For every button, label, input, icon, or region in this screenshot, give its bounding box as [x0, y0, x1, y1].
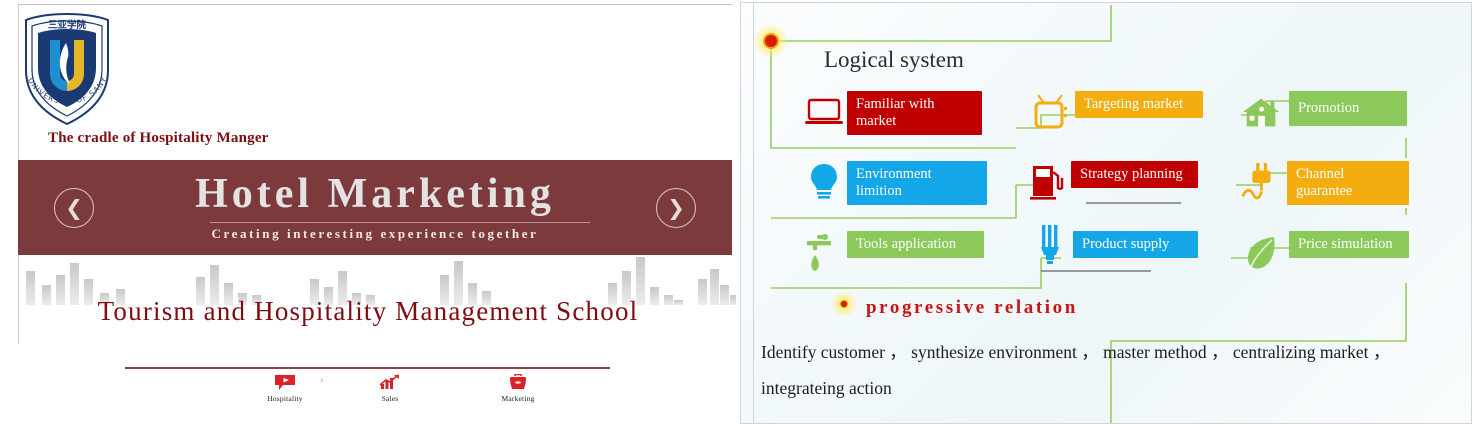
leaf-icon: [1241, 231, 1283, 275]
logical-system-heading: Logical system: [824, 47, 964, 73]
left-slide: 三亚学院 UNIVERSITY OF SANYA The cradle of H…: [0, 0, 736, 424]
faucet-drop-icon: [803, 231, 845, 275]
laptop-icon: [803, 91, 845, 135]
footer-label-sales: Sales: [345, 394, 435, 403]
television-icon: [1031, 91, 1073, 135]
node-label-environment-limition: Environment limition: [847, 161, 987, 205]
progressive-relation-label: progressive relation: [866, 297, 1078, 319]
body-line-1: Identify customer ， synthesize environme…: [761, 333, 1390, 371]
top-rule: [18, 4, 732, 5]
node-label-price-simulation: Price simulation: [1289, 231, 1409, 258]
footer-label-hospitality: Hospitality: [240, 394, 330, 403]
svg-text:三亚学院: 三亚学院: [48, 19, 87, 31]
footer-divider: [125, 367, 610, 369]
power-plug-icon: [1239, 161, 1281, 205]
chevron-right-small-icon: ›: [320, 376, 324, 386]
lightbulb-icon: [803, 161, 845, 205]
footer-item-hospitality[interactable]: Hospitality: [240, 372, 330, 403]
line-chart-icon: [345, 372, 435, 392]
footer-item-marketing[interactable]: Marketing: [473, 372, 563, 403]
school-name: Tourism and Hospitality Management Schoo…: [0, 296, 736, 327]
briefcase-icon: [473, 372, 563, 392]
body-line-2: integrateing action: [761, 369, 892, 407]
node-label-tools-application: Tools application: [847, 231, 984, 258]
banner-subtitle: Creating interesting experience together: [18, 226, 732, 242]
root-node-marker: [754, 24, 788, 58]
banner-title: Hotel Marketing: [18, 171, 732, 217]
node-label-product-supply: Product supply: [1073, 231, 1198, 258]
footer-icon-row: Hospitality › Sales: [125, 372, 610, 412]
node-label-familiar-with-market: Familiar with market: [847, 91, 982, 135]
node-label-channel-guarantee: Channel guarantee: [1287, 161, 1409, 205]
university-logo: 三亚学院 UNIVERSITY OF SANYA: [8, 10, 126, 128]
slide-pair: 三亚学院 UNIVERSITY OF SANYA The cradle of H…: [0, 0, 1472, 424]
chevron-left-icon[interactable]: ❮: [54, 188, 94, 228]
node-label-strategy-planning: Strategy planning: [1071, 161, 1198, 188]
footer-item-sales[interactable]: Sales: [345, 372, 435, 403]
hero-banner: Hotel Marketing Creating interesting exp…: [18, 160, 732, 255]
speech-bubble-play-icon: [240, 372, 330, 392]
banner-divider: [210, 222, 590, 223]
node-label-promotion: Promotion: [1289, 91, 1407, 126]
right-slide: Logical system Familiar with market: [740, 2, 1472, 424]
fuel-pump-icon: [1027, 161, 1069, 205]
energy-bulb-icon: [1029, 225, 1071, 269]
footer-label-marketing: Marketing: [473, 394, 563, 403]
node-label-targeting-market: Targeting market: [1075, 91, 1203, 118]
chevron-right-icon[interactable]: ❯: [656, 188, 696, 228]
progressive-node-marker: [831, 291, 857, 317]
tagline: The cradle of Hospitality Manger: [48, 130, 269, 147]
house-icon: [1241, 91, 1283, 135]
